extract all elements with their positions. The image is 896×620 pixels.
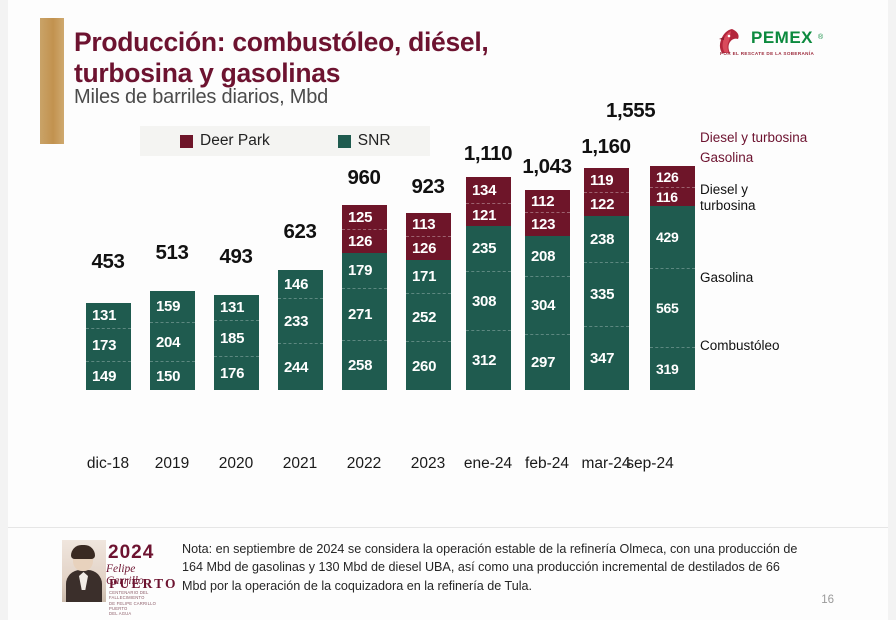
segment-value: 123 — [525, 216, 555, 233]
segment-value: 233 — [278, 313, 308, 330]
segment-snr-gasolina-5: 252 — [406, 293, 451, 341]
segment-snr-combustoleo-9: 319 — [650, 347, 695, 390]
segment-value: 150 — [150, 368, 180, 385]
category-label-9: sep-24 — [604, 455, 696, 473]
segment-snr-diesel-4: 179 — [342, 253, 387, 288]
segment-deer-gasolina-5: 126 — [406, 236, 451, 260]
annotation-deer-diesel: Diesel y turbosina — [700, 130, 807, 146]
segment-value: 121 — [466, 207, 496, 224]
segment-value: 308 — [466, 293, 496, 310]
segment-value: 347 — [584, 350, 614, 367]
bar-feb-24[interactable]: 112 123 208 304 297 — [525, 190, 570, 390]
segment-deer-gasolina-9: 116 — [650, 187, 695, 206]
segment-deer-diesel-6: 134 — [466, 177, 511, 203]
segment-snr-diesel-7: 208 — [525, 236, 570, 276]
bar-dic-18[interactable]: 131 173 149 — [86, 303, 131, 390]
bar-2020[interactable]: 131 185 176 — [214, 295, 259, 390]
segment-value: 126 — [406, 240, 436, 257]
segment-value: 159 — [150, 298, 180, 315]
segment-snr-gasolina-6: 308 — [466, 271, 511, 330]
bar-total-8: 1,160 — [560, 135, 652, 159]
segment-value: 119 — [584, 172, 613, 189]
segment-value: 565 — [650, 300, 678, 316]
segment-snr-diesel-0: 131 — [86, 303, 131, 328]
segment-snr-diesel-3: 146 — [278, 270, 323, 298]
gobierno-emblem: 2024 Felipe Carrillo PUERTO CENTENARIO D… — [62, 540, 172, 602]
segment-snr-diesel-8: 238 — [584, 216, 629, 262]
page-title: Producción: combustóleo, diésel, turbosi… — [74, 27, 634, 89]
segment-value: 131 — [86, 307, 116, 324]
segment-snr-combustoleo-7: 297 — [525, 334, 570, 390]
segment-value: 171 — [406, 268, 436, 285]
segment-snr-gasolina-7: 304 — [525, 276, 570, 334]
segment-value: 244 — [278, 359, 308, 376]
segment-snr-diesel-2: 131 — [214, 295, 259, 320]
segment-snr-combustoleo-4: 258 — [342, 340, 387, 390]
segment-snr-diesel-6: 235 — [466, 226, 511, 271]
emblem-year: 2024 — [108, 542, 154, 564]
segment-snr-combustoleo-5: 260 — [406, 341, 451, 390]
segment-value: 112 — [525, 193, 554, 210]
felipe-carrillo-portrait-icon — [62, 540, 106, 602]
annotation-snr-gasolina: Gasolina — [700, 270, 753, 286]
segment-value: 122 — [584, 196, 614, 213]
bar-total-5: 923 — [382, 175, 474, 199]
segment-value: 238 — [584, 231, 614, 248]
segment-snr-combustoleo-2: 176 — [214, 356, 259, 390]
segment-deer-diesel-8: 119 — [584, 168, 629, 192]
segment-value: 125 — [342, 209, 372, 226]
segment-snr-gasolina-1: 204 — [150, 322, 195, 361]
bar-total-9: 1,555 — [606, 99, 698, 123]
segment-snr-gasolina-8: 335 — [584, 262, 629, 326]
segment-value: 126 — [650, 169, 678, 185]
segment-value: 258 — [342, 357, 372, 374]
segment-value: 252 — [406, 309, 436, 326]
segment-value: 146 — [278, 276, 308, 293]
bar-2021[interactable]: 146 233 244 — [278, 270, 323, 390]
segment-deer-diesel-9: 126 — [650, 166, 695, 187]
annotation-snr-combustoleo: Combustóleo — [700, 338, 780, 354]
segment-deer-gasolina-8: 122 — [584, 192, 629, 216]
bar-2019[interactable]: 159 204 150 — [150, 291, 195, 390]
segment-value: 235 — [466, 240, 496, 257]
segment-snr-combustoleo-6: 312 — [466, 330, 511, 390]
footnote: Nota: en septiembre de 2024 se considera… — [182, 540, 802, 595]
segment-deer-diesel-4: 125 — [342, 205, 387, 229]
segment-value: 134 — [466, 182, 496, 199]
bar-2022[interactable]: 125 126 179 271 258 — [342, 205, 387, 390]
segment-value: 185 — [214, 330, 244, 347]
segment-snr-gasolina-3: 233 — [278, 298, 323, 343]
segment-value: 131 — [214, 299, 244, 316]
segment-deer-diesel-5: 113 — [406, 213, 451, 236]
segment-deer-gasolina-7: 123 — [525, 212, 570, 236]
segment-value: 204 — [150, 334, 180, 351]
bar-2023[interactable]: 113 126 171 252 260 — [406, 213, 451, 390]
segment-snr-gasolina-9: 565 — [650, 268, 695, 347]
segment-value: 208 — [525, 248, 555, 265]
segment-snr-diesel-1: 159 — [150, 291, 195, 322]
segment-value: 297 — [525, 354, 555, 371]
segment-snr-diesel-9: 429 — [650, 206, 695, 268]
segment-value: 149 — [86, 368, 116, 385]
segment-value: 173 — [86, 337, 116, 354]
segment-deer-gasolina-6: 121 — [466, 203, 511, 226]
bar-sep-24[interactable]: 126 116 429 565 319 — [650, 166, 695, 390]
segment-snr-diesel-5: 171 — [406, 260, 451, 293]
segment-value: 335 — [584, 286, 614, 303]
segment-value: 116 — [650, 189, 678, 205]
pemex-tagline: POR EL RESCATE DE LA SOBERANÍA — [720, 51, 814, 56]
registered-mark: ® — [818, 34, 823, 41]
segment-snr-combustoleo-8: 347 — [584, 326, 629, 390]
segment-deer-diesel-7: 112 — [525, 190, 570, 212]
segment-value: 304 — [525, 297, 555, 314]
stacked-bar-chart: 453 131 173 149 dic-18 513 159 204 150 2… — [0, 90, 896, 390]
segment-value: 319 — [650, 361, 678, 377]
segment-value: 312 — [466, 352, 496, 369]
bar-total-3: 623 — [254, 220, 346, 244]
segment-value: 176 — [214, 365, 244, 382]
annotation-deer-gasolina: Gasolina — [700, 150, 753, 166]
page-number: 16 — [821, 594, 834, 606]
segment-value: 126 — [342, 233, 372, 250]
segment-value: 179 — [342, 262, 372, 279]
segment-snr-combustoleo-1: 150 — [150, 361, 195, 390]
segment-snr-combustoleo-0: 149 — [86, 361, 131, 390]
slide-root: Producción: combustóleo, diésel, turbosi… — [0, 0, 896, 620]
bar-total-2: 493 — [190, 245, 282, 269]
segment-snr-combustoleo-3: 244 — [278, 343, 323, 390]
footer-divider — [8, 527, 888, 528]
segment-value: 260 — [406, 358, 436, 375]
segment-value: 429 — [650, 229, 678, 245]
segment-value: 113 — [406, 216, 435, 233]
emblem-subtitle: CENTENARIO DEL FALLECIMIENTO DE FELIPE C… — [109, 590, 172, 616]
pemex-wordmark: PEMEX — [751, 28, 813, 48]
bar-ene-24[interactable]: 134 121 235 308 312 — [466, 177, 511, 390]
segment-snr-gasolina-2: 185 — [214, 320, 259, 356]
annotation-snr-diesel: Diesel y turbosina — [700, 182, 756, 214]
segment-snr-gasolina-0: 173 — [86, 328, 131, 361]
segment-value: 271 — [342, 306, 372, 323]
bar-mar-24[interactable]: 119 122 238 335 347 — [584, 168, 629, 390]
segment-snr-gasolina-4: 271 — [342, 288, 387, 340]
pemex-logo: PEMEX ® POR EL RESCATE DE LA SOBERANÍA — [718, 26, 828, 66]
segment-deer-gasolina-4: 126 — [342, 229, 387, 253]
